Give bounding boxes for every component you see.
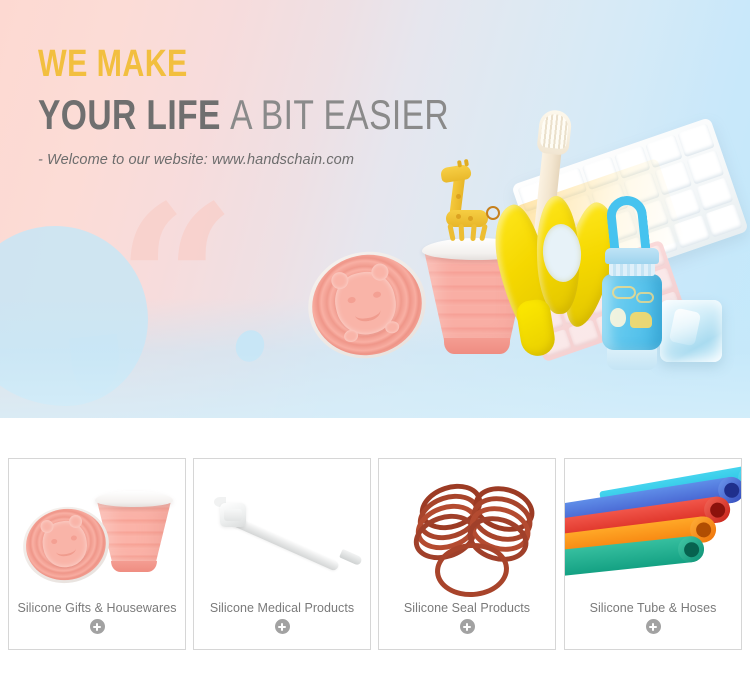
category-card-silicone-medical-products[interactable]: Silicone Medical Products — [193, 458, 371, 650]
welcome-website-text: - Welcome to our website: www.handschain… — [38, 152, 552, 168]
plus-circle-icon[interactable] — [646, 619, 661, 634]
plus-circle-icon[interactable] — [275, 619, 290, 634]
category-image-silicone-seal-products — [379, 459, 555, 601]
product-category-cards: Silicone Gifts & Housewares Silicone Med… — [0, 458, 750, 654]
silicone-medical-tube — [230, 515, 340, 571]
category-label: Silicone Gifts & Housewares — [9, 601, 185, 615]
category-label: Silicone Seal Products — [379, 601, 555, 615]
ice-cube — [660, 300, 722, 362]
category-label: Silicone Medical Products — [194, 601, 370, 615]
hero-banner: “ — [0, 0, 750, 418]
plus-circle-icon[interactable] — [90, 619, 105, 634]
category-image-silicone-medical-products — [194, 459, 370, 601]
plus-circle-icon[interactable] — [460, 619, 475, 634]
category-card-silicone-seal-products[interactable]: Silicone Seal Products — [378, 458, 556, 650]
tube-tip — [339, 549, 363, 566]
collapsible-lid-product — [17, 500, 115, 590]
giraffe-teether — [432, 166, 494, 242]
headline-line-1: WE MAKE — [38, 44, 449, 84]
headline-line-2-light: A BIT EASIER — [230, 91, 449, 138]
collapsible-cup-lid — [298, 241, 435, 369]
category-card-silicone-gifts-housewares[interactable]: Silicone Gifts & Housewares — [8, 458, 186, 650]
category-image-silicone-gifts-housewares — [9, 459, 185, 601]
tube-connector — [220, 503, 246, 527]
headline-line-2: YOUR LIFE A BIT EASIER — [38, 93, 449, 137]
category-image-silicone-tube-hoses — [565, 459, 741, 601]
water-bottle — [600, 196, 668, 372]
headline-line-2-bold: YOUR LIFE — [38, 91, 221, 138]
page-root: “ — [0, 0, 750, 688]
category-label: Silicone Tube & Hoses — [565, 601, 741, 615]
hero-headline: WE MAKE YOUR LIFE A BIT EASIER - Welcome… — [38, 44, 552, 168]
category-card-silicone-tube-hoses[interactable]: Silicone Tube & Hoses — [564, 458, 742, 650]
